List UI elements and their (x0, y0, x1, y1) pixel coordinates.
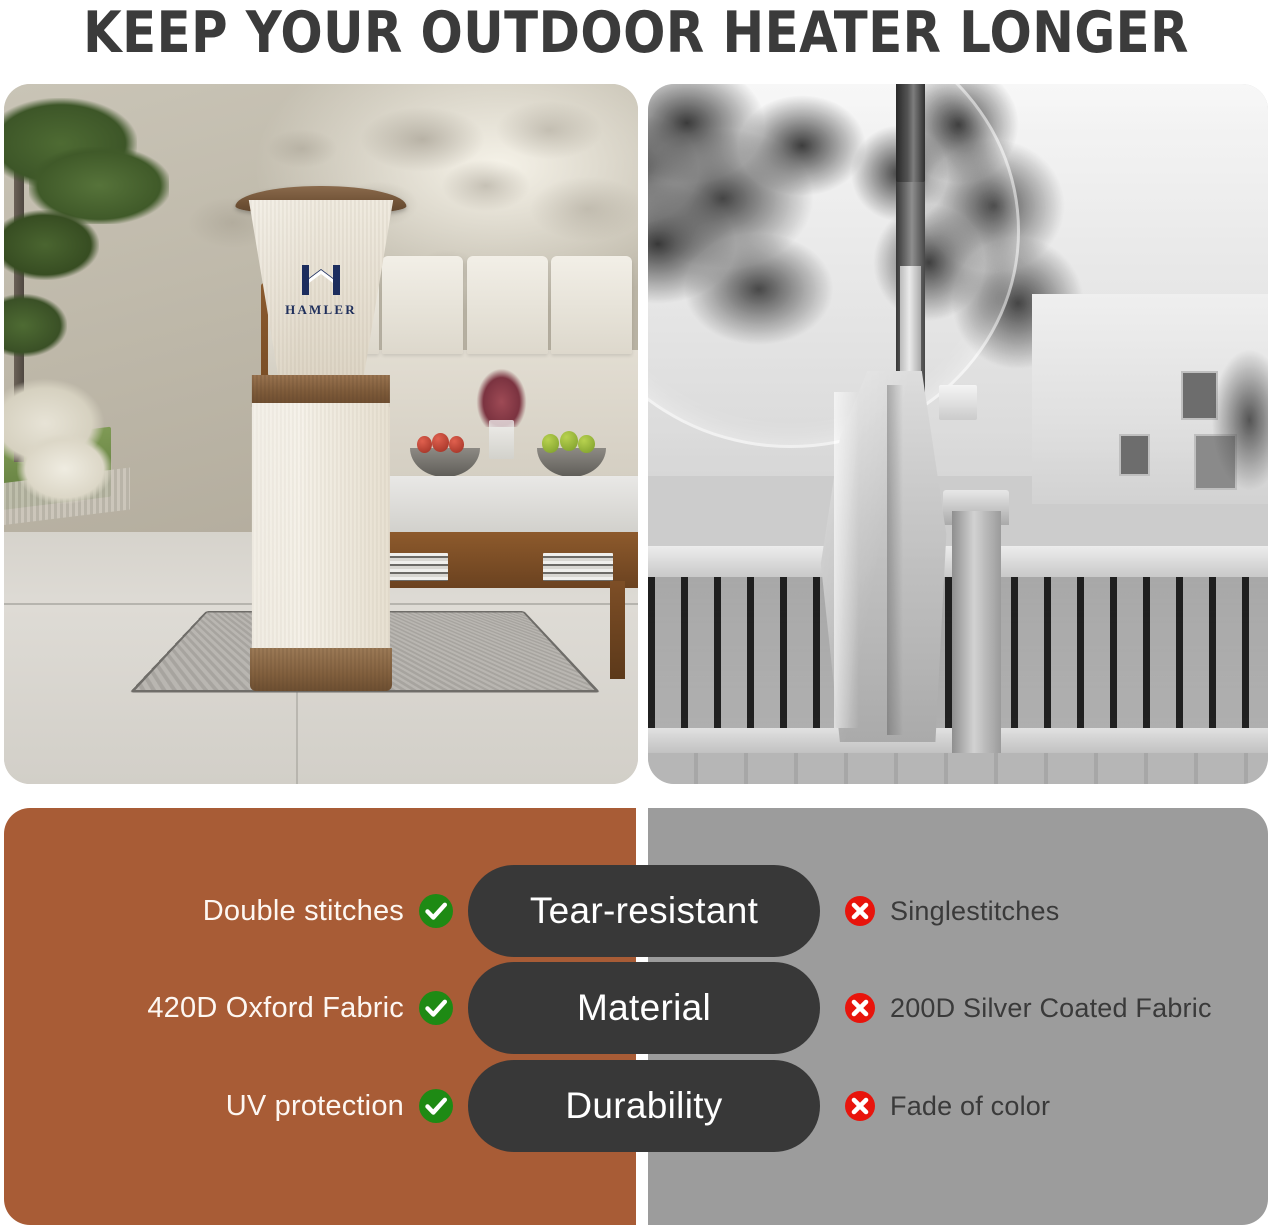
fruit (578, 435, 595, 453)
deck-post (952, 511, 1002, 756)
bad-label: Singlestitches (890, 896, 1059, 927)
tree-foliage (4, 210, 99, 280)
bad-label: 200D Silver Coated Fabric (890, 993, 1212, 1024)
deck-scene (648, 84, 1268, 784)
umbrella-bracket (939, 385, 976, 420)
house-window (1119, 434, 1150, 476)
shrub (1206, 322, 1268, 518)
comparison-rows: Double stitches Tear-resistant (4, 808, 1268, 1225)
fruit (542, 434, 559, 452)
flowering-shrub (17, 434, 112, 504)
feature-label: Tear-resistant (530, 890, 758, 932)
green-check-icon (418, 990, 454, 1026)
glass-vase (489, 420, 514, 459)
comparison-row: 420D Oxford Fabric Material (4, 960, 1268, 1056)
feature-pill: Material (468, 962, 820, 1054)
cover-fold-highlight (834, 392, 859, 728)
red-x-icon (844, 1090, 876, 1122)
good-label: Double stitches (203, 895, 404, 928)
fruit (449, 436, 464, 453)
good-cell: Double stitches (203, 863, 454, 959)
patio-heater-cover-photo: HAMLER (4, 84, 638, 784)
photo-row: HAMLER (4, 84, 1268, 784)
green-check-icon (418, 893, 454, 929)
faded-umbrella-cover-photo (648, 84, 1268, 784)
heater-cover-foot (250, 648, 392, 691)
good-cell: 420D Oxford Fabric (147, 960, 454, 1056)
comparison-table: Double stitches Tear-resistant (4, 808, 1268, 1225)
table-leg (610, 581, 625, 679)
sofa-back-cushion (551, 256, 632, 354)
fruit (417, 436, 432, 454)
comparison-row: UV protection Durability (4, 1058, 1268, 1154)
fruit (560, 431, 578, 451)
bad-cell: Singlestitches (844, 863, 1059, 959)
deck-floorboards (648, 753, 1268, 785)
good-cell: UV protection (226, 1058, 454, 1154)
good-label: 420D Oxford Fabric (147, 992, 404, 1025)
good-label: UV protection (226, 1090, 404, 1123)
bad-cell: Fade of color (844, 1058, 1050, 1154)
marketing-infographic: KEEP YOUR OUTDOOR HEATER LONGER (0, 0, 1272, 1225)
feature-pill: Durability (468, 1060, 820, 1152)
feature-pill: Tear-resistant (468, 865, 820, 957)
feature-label: Material (577, 987, 711, 1029)
feature-label: Durability (565, 1085, 722, 1127)
sofa-back-cushion (467, 256, 548, 354)
green-check-icon (418, 1088, 454, 1124)
bad-label: Fade of color (890, 1091, 1050, 1122)
cover-fold-shadow (887, 385, 903, 735)
tree-foliage (4, 294, 67, 357)
hamler-h-monogram-icon (298, 263, 344, 297)
sofa-back-cushion (382, 256, 463, 354)
patio-scene: HAMLER (4, 84, 638, 784)
red-x-icon (844, 992, 876, 1024)
heater-cover-band (252, 375, 390, 407)
brand-wordmark: HAMLER (285, 302, 357, 318)
heater-cover-body (252, 403, 390, 683)
stacked-books (543, 553, 613, 581)
fruit (432, 433, 449, 452)
red-x-icon (844, 895, 876, 927)
umbrella-pole-cap (896, 84, 925, 182)
flower-arrangement (473, 364, 530, 427)
comparison-row: Double stitches Tear-resistant (4, 863, 1268, 959)
bad-cell: 200D Silver Coated Fabric (844, 960, 1212, 1056)
page-title: KEEP YOUR OUTDOOR HEATER LONGER (19, 2, 1253, 64)
